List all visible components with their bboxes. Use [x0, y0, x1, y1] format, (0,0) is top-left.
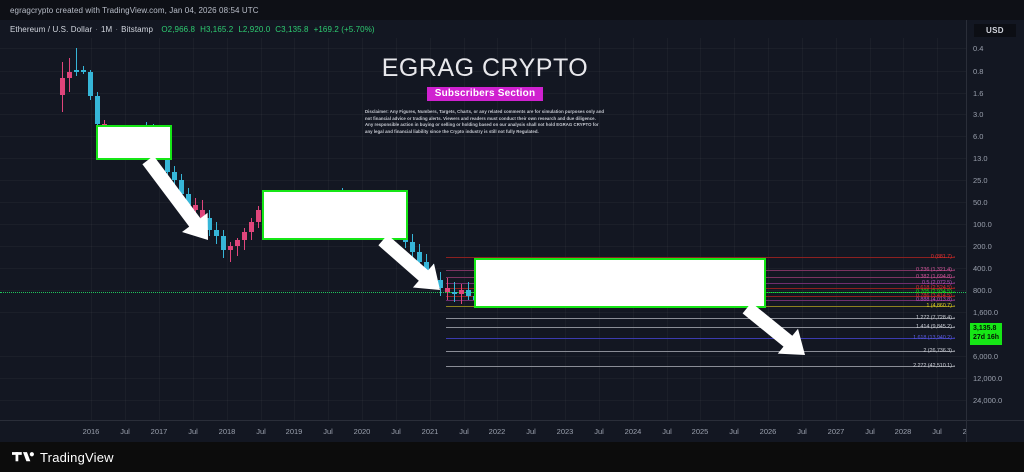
time-tick-label: Jul	[323, 427, 333, 436]
price-tick-label: 1,600.0	[973, 308, 998, 317]
price-tick-label: 800.0	[973, 286, 992, 295]
legend-interval[interactable]: 1M	[101, 25, 112, 34]
price-tick-label: 50.0	[973, 198, 988, 207]
price-tick-label: 25.0	[973, 176, 988, 185]
currency-chip[interactable]: USD	[974, 24, 1016, 37]
legend-separator-2: ·	[112, 25, 121, 34]
time-tick-label: 2028	[895, 427, 912, 436]
time-tick-label: Jul	[120, 427, 130, 436]
price-tick-label: 200.0	[973, 242, 992, 251]
time-tick-label: 2018	[219, 427, 236, 436]
time-tick-label: 2025	[692, 427, 709, 436]
tradingview-mark-icon	[12, 450, 34, 464]
time-axis[interactable]: 2016Jul2017Jul2018Jul2019Jul2020Jul2021J…	[0, 420, 966, 442]
price-tick-label: 0.4	[973, 44, 983, 53]
tradingview-chart-screen: egragcrypto created with TradingView.com…	[0, 0, 1024, 472]
current-price-badge: 3,135.8 27d 16h	[970, 323, 1002, 345]
subscribers-badge: Subscribers Section	[427, 87, 544, 101]
time-tick-label: Jul	[256, 427, 266, 436]
disclaimer-text: Disclaimer: Any Figures, Numbers, Target…	[365, 109, 605, 136]
time-tick-label: Jul	[188, 427, 198, 436]
time-tick-label: Jul	[594, 427, 604, 436]
price-tick-label: 1.6	[973, 89, 983, 98]
footer-bar: TradingView	[0, 442, 1024, 472]
fib-level-label: 2 (26,736.3) -	[923, 348, 955, 354]
current-price-value: 3,135.8	[973, 325, 999, 334]
breakdown-arrow-1	[142, 156, 208, 240]
time-tick-label: 2017	[151, 427, 168, 436]
time-tick-label: Jul	[459, 427, 469, 436]
time-tick-label: 2023	[557, 427, 574, 436]
time-tick-label: 2022	[489, 427, 506, 436]
brand-block: EGRAG CRYPTO Subscribers Section	[355, 54, 615, 101]
time-tick-label: Jul	[865, 427, 875, 436]
price-tick-label: 13.0	[973, 154, 988, 163]
price-tick-label: 0.8	[973, 67, 983, 76]
time-tick-label: Jul	[391, 427, 401, 436]
legend-close: C3,135.8	[275, 25, 313, 34]
price-tick-label: 100.0	[973, 220, 992, 229]
time-tick-label: Jul	[729, 427, 739, 436]
fib-level-label: 1.272 (7,728.4) -	[916, 315, 955, 321]
breakdown-arrow-2	[378, 235, 440, 290]
time-tick-label: 2021	[422, 427, 439, 436]
fib-level-label: 2.272 (42,510.1) -	[913, 363, 955, 369]
legend-symbol[interactable]: Ethereum / U.S. Dollar	[10, 25, 92, 34]
time-tick-label: 2027	[828, 427, 845, 436]
legend-exchange: Bitstamp	[121, 25, 153, 34]
chart-plot-area[interactable]: 0 (881.7) -0.236 (1,321.4) -0.382 (1,694…	[0, 38, 966, 420]
fib-level-label: 1 (4,860.7) -	[926, 303, 955, 309]
legend-change: +169.2 (+5.70%)	[314, 25, 380, 34]
time-tick-label: Jul	[526, 427, 536, 436]
time-tick-label: Jul	[662, 427, 672, 436]
price-tick-label: 6.0	[973, 132, 983, 141]
price-tick-label: 12,000.0	[973, 374, 1002, 383]
tradingview-wordmark: TradingView	[40, 450, 114, 465]
price-tick-label: 24,000.0	[973, 396, 1002, 405]
fib-level-label: 0 (881.7) -	[931, 254, 955, 260]
legend-high: H3,165.2	[200, 25, 238, 34]
price-tick-label: 3.0	[973, 110, 983, 119]
attribution-text: egragcrypto created with TradingView.com…	[0, 6, 259, 15]
legend-low: L2,920.0	[238, 25, 275, 34]
axis-corner	[966, 420, 1024, 442]
legend-separator-1: ·	[92, 25, 101, 34]
price-tick-label: 400.0	[973, 264, 992, 273]
breakdown-arrow-3	[743, 303, 805, 355]
time-tick-label: 2026	[760, 427, 777, 436]
chart-legend: Ethereum / U.S. Dollar · 1M · Bitstamp O…	[0, 20, 1024, 38]
time-tick-label: Jul	[797, 427, 807, 436]
price-axis[interactable]: USD 0.40.81.63.06.013.025.050.0100.0200.…	[966, 20, 1024, 420]
legend-open: O2,966.8	[161, 25, 200, 34]
price-tick-label: 6,000.0	[973, 352, 998, 361]
fib-level-label: 0.236 (1,321.4) -	[916, 267, 955, 273]
time-tick-label: 2016	[83, 427, 100, 436]
time-tick-label: 2020	[354, 427, 371, 436]
attribution-bar: egragcrypto created with TradingView.com…	[0, 0, 1024, 20]
fib-level-label: 1.618 (13,940.2) -	[913, 335, 955, 341]
tradingview-logo[interactable]: TradingView	[12, 450, 114, 465]
time-tick-label: Jul	[932, 427, 942, 436]
fib-level-label: 1.414 (9,845.2) -	[916, 324, 955, 330]
brand-title: EGRAG CRYPTO	[355, 54, 615, 83]
bar-countdown: 27d 16h	[973, 334, 999, 343]
time-tick-label: 2019	[286, 427, 303, 436]
time-tick-label: 2024	[625, 427, 642, 436]
